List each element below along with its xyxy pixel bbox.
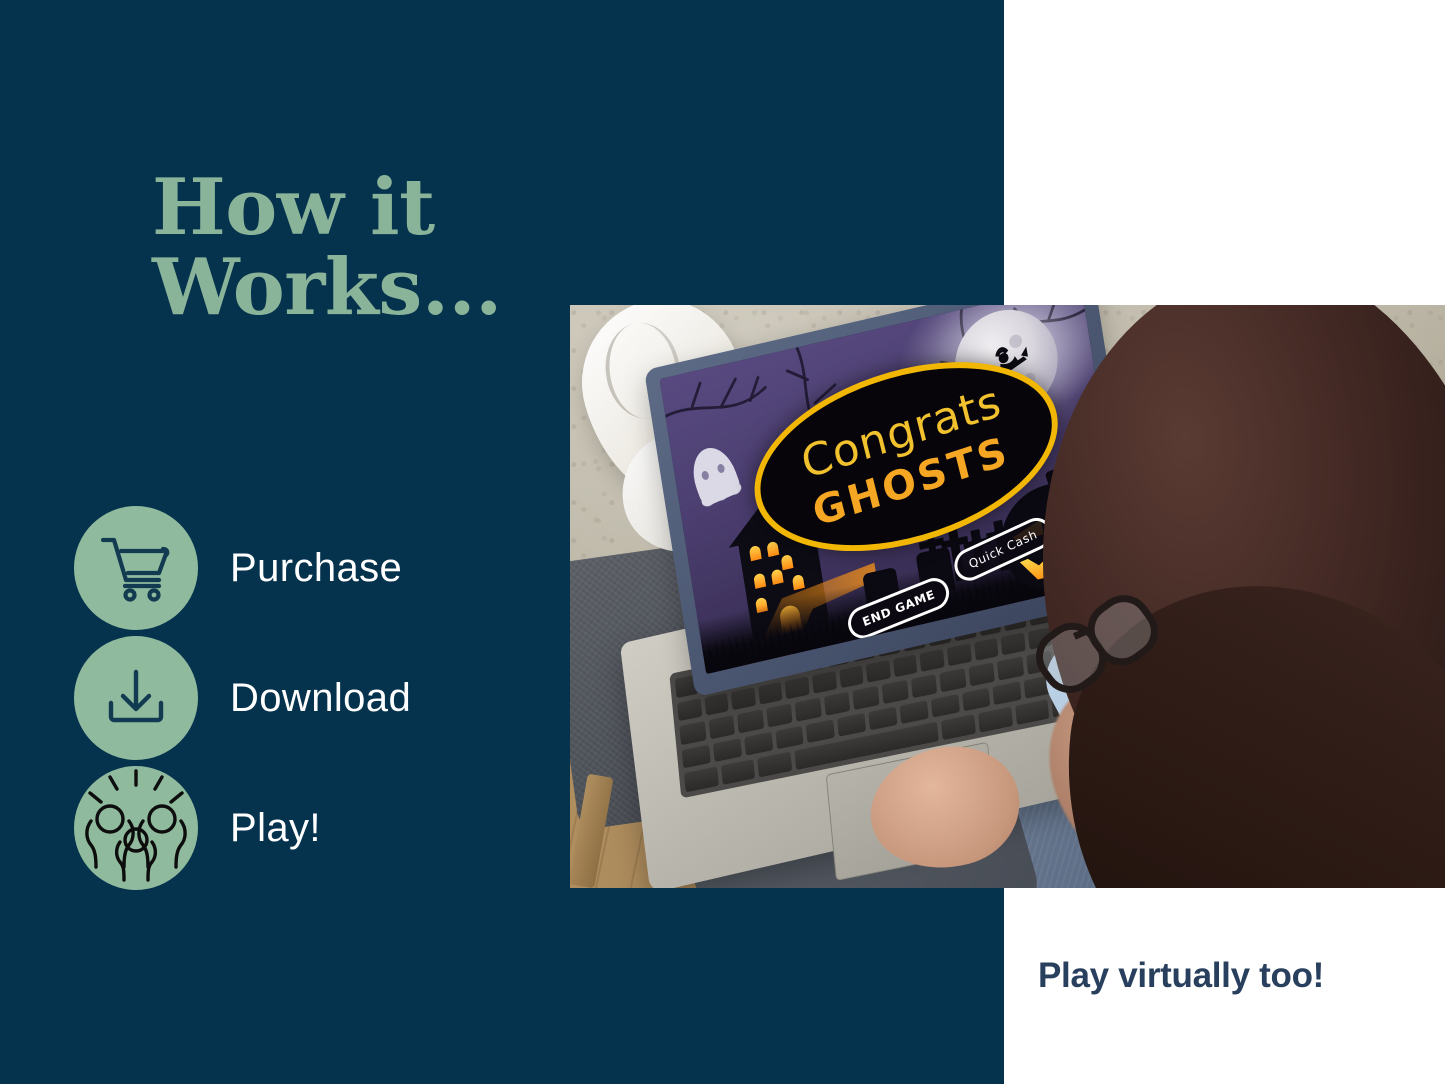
key — [708, 714, 735, 739]
key — [721, 759, 756, 785]
navy-footer-strip — [0, 888, 1004, 1084]
step-label-purchase: Purchase — [230, 546, 402, 591]
key — [930, 693, 959, 718]
key — [757, 751, 792, 777]
key — [684, 766, 719, 792]
step-purchase: Purchase — [74, 503, 534, 633]
key — [893, 653, 918, 677]
key — [881, 679, 908, 704]
slide-canvas: How it Works... Purchase — [0, 0, 1445, 1084]
celebration-people-icon — [74, 766, 198, 890]
step-download: Download — [74, 633, 534, 763]
key — [837, 712, 866, 737]
key — [806, 718, 835, 743]
key — [962, 687, 991, 712]
key — [766, 703, 793, 728]
key — [868, 706, 897, 731]
step-play: Play! — [74, 763, 534, 893]
key — [997, 656, 1024, 681]
key — [731, 686, 756, 710]
step-label-download: Download — [230, 676, 411, 721]
step-label-play: Play! — [230, 806, 321, 851]
key — [920, 648, 945, 672]
key — [812, 670, 837, 694]
key — [785, 675, 810, 699]
shopping-cart-icon — [74, 506, 198, 630]
key — [947, 642, 972, 666]
key — [941, 714, 976, 740]
key — [679, 720, 706, 745]
key — [968, 661, 995, 686]
key — [824, 691, 851, 716]
key — [775, 725, 804, 750]
key — [839, 664, 864, 688]
key — [758, 681, 783, 705]
key — [899, 699, 928, 724]
page-title: How it Works... — [152, 168, 572, 329]
key — [682, 743, 711, 768]
key — [713, 737, 742, 762]
key — [1015, 699, 1050, 725]
key — [737, 708, 764, 733]
key — [677, 697, 702, 721]
key — [866, 659, 891, 683]
key — [939, 667, 966, 692]
key — [910, 673, 937, 698]
key — [744, 731, 773, 756]
footer-note: Play virtually too! — [1038, 956, 1324, 996]
steps-list: Purchase Download — [74, 503, 534, 893]
key — [978, 706, 1013, 732]
key — [993, 680, 1022, 705]
key — [974, 637, 999, 661]
download-icon — [74, 636, 198, 760]
key — [795, 697, 822, 722]
key — [1001, 631, 1026, 655]
key — [704, 691, 729, 715]
key — [853, 685, 880, 710]
laptop-photo: Congrats GHOSTS END GAME Quick Cash — [570, 305, 1445, 888]
